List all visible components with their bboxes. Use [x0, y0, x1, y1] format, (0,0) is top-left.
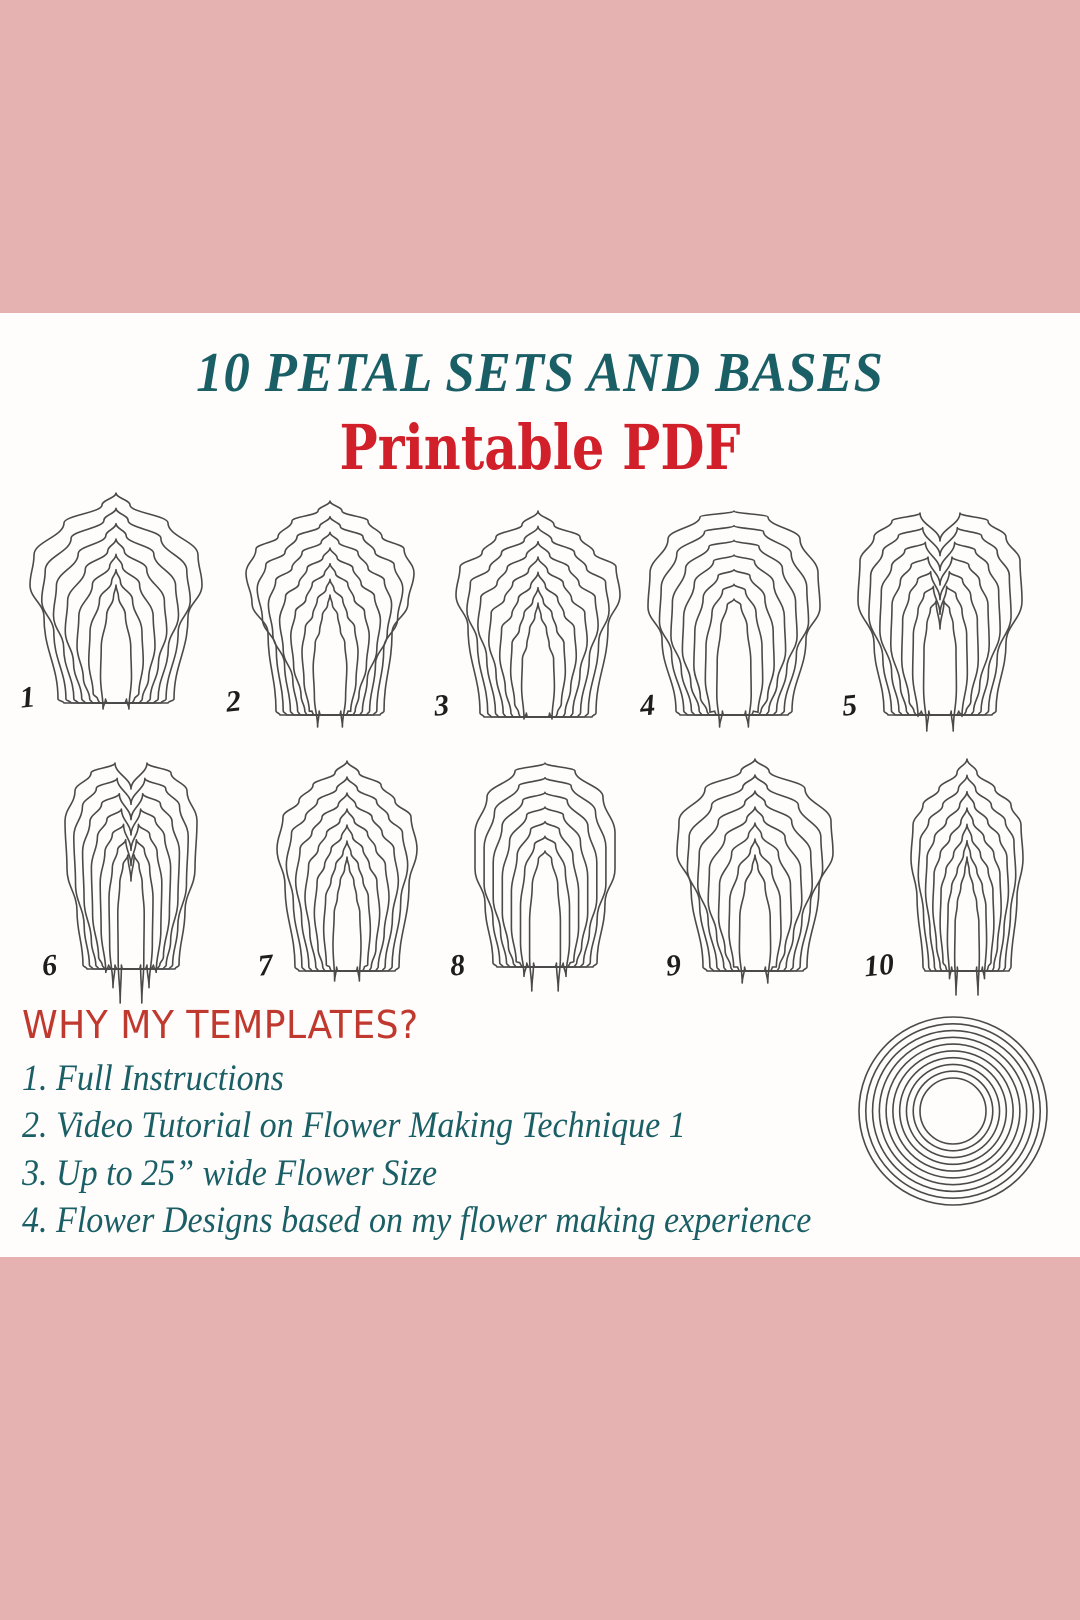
- petal-template-9[interactable]: 9: [660, 751, 850, 983]
- poster-page: 10 PETAL SETS AND BASES Printable PDF 1 …: [0, 0, 1080, 1620]
- petal-template-10[interactable]: 10: [872, 751, 1062, 983]
- feature-item-3: 3. Up to 25” wide Flower Size: [22, 1150, 795, 1197]
- petal-template-3[interactable]: 3: [438, 503, 638, 728]
- feature-item-2: 2. Video Tutorial on Flower Making Techn…: [22, 1102, 795, 1149]
- petal-shape-1-icon: [16, 485, 216, 720]
- petal-shape-4-icon: [634, 503, 834, 728]
- petal-shape-10-icon: [872, 751, 1062, 983]
- petal-shape-6-icon: [36, 753, 226, 983]
- petal-shape-8-icon: [450, 753, 640, 983]
- features-block: WHY MY TEMPLATES? 1. Full Instructions 2…: [22, 1003, 862, 1244]
- bottom-pink-band: [0, 1257, 1080, 1620]
- concentric-base-circles-icon: [848, 1011, 1058, 1211]
- petal-template-grid: 1 2 3 4 5 6: [0, 313, 1080, 1013]
- petal-template-2[interactable]: 2: [230, 493, 430, 728]
- petal-template-6[interactable]: 6: [36, 753, 226, 983]
- petal-shape-3-icon: [438, 503, 638, 728]
- petal-template-4[interactable]: 4: [634, 503, 834, 728]
- petal-number-10: 10: [862, 948, 895, 985]
- features-heading: WHY MY TEMPLATES?: [22, 1003, 820, 1047]
- feature-item-1: 1. Full Instructions: [22, 1055, 795, 1102]
- feature-item-4: 4. Flower Designs based on my flower mak…: [22, 1197, 795, 1244]
- petal-shape-7-icon: [252, 753, 442, 983]
- petal-template-8[interactable]: 8: [450, 753, 640, 983]
- petal-shape-9-icon: [660, 751, 850, 983]
- content-sheet: 10 PETAL SETS AND BASES Printable PDF 1 …: [0, 313, 1080, 1257]
- top-pink-band: [0, 0, 1080, 313]
- petal-template-5[interactable]: 5: [840, 505, 1040, 727]
- petal-template-1[interactable]: 1: [16, 485, 216, 720]
- petal-shape-2-icon: [230, 493, 430, 728]
- petal-template-7[interactable]: 7: [252, 753, 442, 983]
- petal-shape-5-icon: [840, 505, 1040, 727]
- base-circles-template[interactable]: [848, 1011, 1058, 1216]
